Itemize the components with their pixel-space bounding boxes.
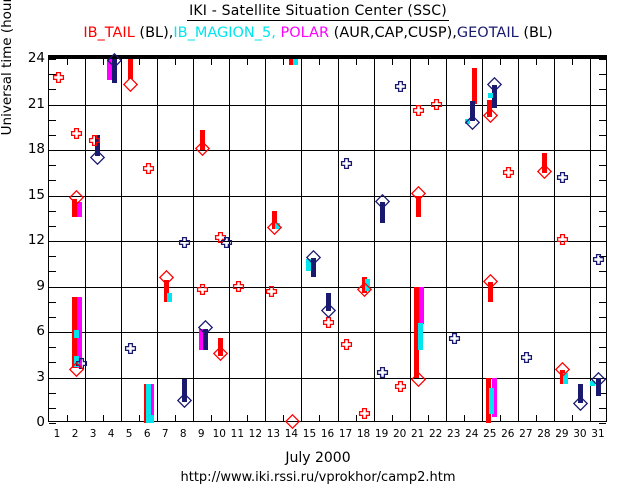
data-bar [489,388,494,414]
data-marker-diamond [213,346,228,361]
data-marker-diamond [198,320,213,335]
y-tick-minor [599,180,606,181]
data-marker-cross [143,163,154,174]
x-tick-label: 1 [47,428,67,440]
chart-title-text: IKI - Satellite Situation Center (SSC) [187,3,449,21]
x-tick-top [283,59,284,65]
x-tick-label: 26 [498,428,518,440]
data-marker-cross [221,237,232,248]
grid-line-horizontal [49,378,606,379]
x-tick [139,415,140,421]
plot-area: 03691215182124 [48,58,607,422]
x-tick-top [338,59,339,65]
x-tick-top [446,59,447,65]
data-marker-cross [413,105,424,116]
data-marker-diamond [375,194,390,209]
y-tick-minor [49,302,56,303]
x-tick [356,415,357,421]
grid-line-vertical [193,59,194,421]
data-marker-diamond [107,53,122,68]
y-tick-minor [49,271,56,272]
x-tick-label: 15 [299,428,319,440]
data-bar [418,323,423,350]
x-tick-label: 28 [534,428,554,440]
x-tick-label: 21 [408,428,428,440]
y-tick-label: 24 [5,50,45,66]
x-tick [464,415,465,421]
data-marker-diamond [321,303,336,318]
legend-part-1: (BL), [139,25,173,41]
grid-line-vertical [265,59,266,421]
data-marker-cross [431,99,442,110]
data-marker-cross [125,343,136,354]
data-marker-diamond [465,115,480,130]
x-tick-top [554,59,555,65]
x-tick-top [572,59,573,65]
data-marker-cross [323,317,334,328]
x-tick [157,415,158,421]
grid-line-horizontal [49,241,606,242]
data-bar [128,59,133,79]
y-tick-minor [49,347,56,348]
x-tick-label: 25 [480,428,500,440]
y-tick-label: 6 [5,323,45,339]
y-tick-minor [49,408,56,409]
data-marker-diamond [195,141,210,156]
grid-line-vertical [518,59,519,421]
chart-legend: IB_TAIL (BL),IB_MAGION_5, POLAR (AUR,CAP… [0,25,636,41]
data-marker-diamond [306,250,321,265]
x-tick-top [265,59,266,65]
x-tick [211,415,212,421]
y-tick-minor [599,408,606,409]
x-tick-label: 8 [173,428,193,440]
y-axis-title: Universal time (hours) [0,0,15,150]
data-marker-diamond [177,393,192,408]
grid-line-vertical [410,59,411,421]
grid-line-vertical [338,59,339,421]
data-marker-diamond [555,362,570,377]
data-marker-cross [341,158,352,169]
data-marker-cross [179,237,190,248]
y-tick-major [49,59,56,60]
y-tick-minor [599,271,606,272]
y-tick-major [599,59,606,60]
data-marker-diamond [591,372,606,387]
grid-line-horizontal [49,332,606,333]
x-tick-top [157,59,158,65]
x-tick [410,415,411,421]
y-tick-label: 9 [5,278,45,294]
chart-page: IKI - Satellite Situation Center (SSC) I… [0,0,636,500]
grid-line-horizontal [49,196,606,197]
data-marker-diamond [267,220,282,235]
x-tick-label: 2 [65,428,85,440]
grid-line-vertical [157,59,158,421]
x-tick [193,415,194,421]
y-tick-major [49,241,56,242]
legend-part-4: (AUR,CAP,CUSP), [334,25,457,41]
y-tick-major [599,241,606,242]
x-tick-label: 13 [263,428,283,440]
data-marker-cross [377,367,388,378]
y-tick-major [599,150,606,151]
grid-line-vertical [374,59,375,421]
y-tick-minor [599,347,606,348]
x-tick-top [67,59,68,65]
x-tick-label: 23 [444,428,464,440]
data-marker-cross [89,135,100,146]
data-marker-cross [557,234,568,245]
y-tick-minor [49,362,56,363]
x-tick [428,415,429,421]
x-tick-top [500,59,501,65]
data-bar [472,68,477,104]
x-tick [319,415,320,421]
x-tick [247,415,248,421]
y-tick-label: 0 [5,414,45,430]
data-bar [293,59,298,65]
y-tick-major [599,105,606,106]
x-tick-top [482,59,483,65]
data-marker-cross [593,254,604,265]
x-tick-label: 29 [552,428,572,440]
data-marker-diamond [123,77,138,92]
y-tick-label: 12 [5,232,45,248]
grid-line-vertical [446,59,447,421]
grid-line-vertical [590,59,591,421]
x-tick [175,415,176,421]
chart-title: IKI - Satellite Situation Center (SSC) [0,3,636,19]
data-bar [419,287,424,325]
y-tick-major [49,196,56,197]
x-tick [85,415,86,421]
y-tick-minor [49,226,56,227]
data-marker-cross [521,352,532,363]
y-tick-minor [599,89,606,90]
data-bar [167,293,172,302]
legend-part-0: IB_TAIL [83,25,139,41]
data-marker-cross [53,72,64,83]
x-tick-label: 14 [281,428,301,440]
x-tick-top [247,59,248,65]
y-tick-major [599,332,606,333]
x-tick-label: 31 [588,428,608,440]
x-tick [446,415,447,421]
x-tick [536,415,537,421]
grid-line-vertical [121,59,122,421]
data-marker-diamond [357,282,372,297]
data-marker-diamond [537,164,552,179]
data-marker-diamond [411,372,426,387]
data-marker-cross [395,381,406,392]
data-marker-cross [503,167,514,178]
y-tick-minor [599,362,606,363]
grid-line-horizontal [49,150,606,151]
x-tick [590,415,591,421]
y-tick-minor [599,302,606,303]
x-tick [554,415,555,421]
x-tick-label: 16 [318,428,338,440]
x-tick [374,415,375,421]
y-tick-major [49,150,56,151]
x-tick-top [428,59,429,65]
x-tick-label: 9 [191,428,211,440]
y-tick-label: 3 [5,369,45,385]
x-tick-top [410,59,411,65]
x-tick-top [103,59,104,65]
x-tick [572,415,573,421]
data-marker-diamond [159,270,174,285]
data-marker-diamond [483,274,498,289]
x-tick-label: 10 [209,428,229,440]
y-tick-minor [599,317,606,318]
x-tick-label: 4 [101,428,121,440]
x-tick-top [229,59,230,65]
y-tick-minor [49,211,56,212]
x-tick-label: 24 [462,428,482,440]
data-marker-diamond [69,190,84,205]
data-marker-cross [341,339,352,350]
legend-part-2: IB_MAGION_5, [173,25,280,41]
data-marker-diamond [483,108,498,123]
x-tick-top [211,59,212,65]
data-marker-cross [197,284,208,295]
y-tick-minor [49,317,56,318]
y-tick-major [599,423,606,424]
x-tick-label: 19 [372,428,392,440]
y-tick-label: 15 [5,187,45,203]
x-tick-top [590,59,591,65]
data-marker-diamond [285,414,300,429]
y-tick-minor [599,135,606,136]
y-tick-minor [599,226,606,227]
data-marker-diamond [573,396,588,411]
x-tick-top [193,59,194,65]
x-tick-label: 7 [155,428,175,440]
y-tick-minor [49,165,56,166]
x-tick [229,415,230,421]
y-tick-major [49,332,56,333]
y-tick-major [49,287,56,288]
grid-line-horizontal [49,105,606,106]
data-marker-cross [266,286,277,297]
y-tick-minor [599,120,606,121]
y-tick-minor [49,135,56,136]
data-marker-cross [233,281,244,292]
source-url: http://www.iki.rssi.ru/vprokhor/camp2.ht… [0,470,636,485]
legend-part-5: GEOTAIL [457,25,523,41]
x-tick-top [356,59,357,65]
x-tick [265,415,266,421]
x-tick-top [374,59,375,65]
data-marker-diamond [69,362,84,377]
x-tick-top [392,59,393,65]
y-tick-major [49,423,56,424]
x-tick-label: 30 [570,428,590,440]
x-tick [103,415,104,421]
x-tick [67,415,68,421]
x-tick-top [536,59,537,65]
x-tick-top [464,59,465,65]
x-tick-label: 11 [227,428,247,440]
y-tick-major [599,287,606,288]
x-tick [500,415,501,421]
data-bar [74,330,79,338]
y-tick-label: 21 [5,96,45,112]
x-tick [518,415,519,421]
data-marker-cross [557,172,568,183]
x-tick-label: 5 [119,428,139,440]
data-marker-cross [395,81,406,92]
data-marker-diamond [487,77,502,92]
y-tick-minor [49,120,56,121]
x-tick-top [301,59,302,65]
x-tick [121,415,122,421]
x-tick [392,415,393,421]
x-tick-label: 20 [390,428,410,440]
data-marker-diamond [90,150,105,165]
x-tick-top [85,59,86,65]
x-tick-top [319,59,320,65]
data-marker-cross [449,333,460,344]
y-tick-major [49,105,56,106]
x-tick [338,415,339,421]
data-marker-cross [71,128,82,139]
y-tick-major [599,196,606,197]
x-tick [301,415,302,421]
y-tick-minor [49,89,56,90]
y-tick-minor [599,74,606,75]
x-tick-label: 3 [83,428,103,440]
y-tick-minor [599,165,606,166]
y-tick-minor [49,393,56,394]
x-tick-label: 12 [245,428,265,440]
data-bar [149,415,154,423]
x-tick-label: 27 [516,428,536,440]
data-marker-diamond [411,186,426,201]
y-tick-major [49,378,56,379]
x-tick [482,415,483,421]
legend-part-3: POLAR [280,25,333,41]
y-tick-label: 18 [5,141,45,157]
grid-line-vertical [301,59,302,421]
x-tick-label: 22 [426,428,446,440]
data-marker-cross [359,408,370,419]
x-tick-top [175,59,176,65]
x-tick-top [139,59,140,65]
x-tick-label: 18 [354,428,374,440]
x-axis-title: July 2000 [0,450,636,466]
y-tick-minor [49,256,56,257]
y-tick-minor [49,180,56,181]
x-tick-label: 6 [137,428,157,440]
data-marker-point [488,93,493,98]
legend-part-6: (BL) [523,25,552,41]
x-tick-label: 17 [336,428,356,440]
y-tick-minor [599,211,606,212]
x-tick-top [518,59,519,65]
grid-line-horizontal [49,287,606,288]
